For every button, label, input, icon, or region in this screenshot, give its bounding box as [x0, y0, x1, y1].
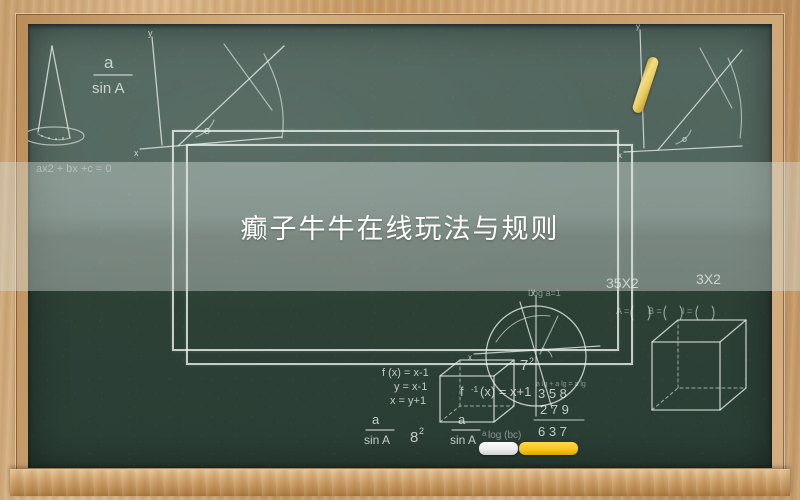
- chalkboard-banner: a sin A ax2 + bx +c = 0 y x o: [0, 0, 800, 500]
- inverse-function: f: [460, 384, 464, 399]
- log-product: a log (bc): [482, 429, 521, 441]
- svg-text:2: 2: [529, 356, 534, 366]
- circle-axis-diagram: y x: [468, 287, 600, 416]
- power-seven: 7 2: [520, 356, 534, 374]
- svg-text:6 3 7: 6 3 7: [538, 424, 567, 439]
- yellow-chalk-icon: [519, 442, 578, 455]
- svg-text:y: y: [636, 24, 640, 31]
- svg-text:x = y+1: x = y+1: [390, 395, 426, 407]
- svg-text:x: x: [134, 148, 139, 158]
- svg-text:3 5 8: 3 5 8: [538, 386, 567, 401]
- svg-text:sin A: sin A: [92, 80, 125, 97]
- law-of-sines-right: a sin A: [450, 412, 480, 447]
- svg-text:(x) = x+1: (x) = x+1: [480, 384, 531, 399]
- svg-text:7: 7: [520, 357, 528, 374]
- svg-text:x: x: [618, 151, 622, 160]
- column-subtraction: 3 5 8 2 7 9 6 3 7: [538, 386, 569, 439]
- svg-text:I =: I =: [682, 306, 692, 316]
- power-eight: 8 2: [410, 426, 424, 446]
- svg-text:o: o: [204, 125, 210, 137]
- matrix-row: A = B = I =: [616, 306, 692, 316]
- svg-text:x: x: [468, 353, 472, 362]
- svg-text:y = x-1: y = x-1: [394, 381, 427, 393]
- svg-text:log (bc): log (bc): [488, 430, 521, 441]
- log-identity: a lg + a lg = a lg: [536, 381, 586, 388]
- page-title: 癫子牛牛在线玩法与规则: [0, 162, 800, 291]
- angle-diagram-left: y x o: [134, 28, 284, 158]
- cube-diagram-right: [652, 320, 746, 410]
- svg-text:8: 8: [410, 429, 418, 446]
- svg-text:a: a: [482, 429, 487, 438]
- svg-text:o: o: [682, 134, 687, 144]
- svg-text:−: −: [538, 401, 544, 413]
- svg-text:2 7 9: 2 7 9: [540, 402, 569, 417]
- svg-text:a: a: [372, 412, 380, 427]
- svg-text:a: a: [458, 412, 466, 427]
- svg-text:y: y: [148, 28, 153, 38]
- svg-text:-1: -1: [471, 385, 479, 394]
- white-chalk-icon: [479, 442, 518, 455]
- svg-text:f (x) = x-1: f (x) = x-1: [382, 367, 429, 379]
- cube-diagram-left: [440, 360, 514, 422]
- svg-text:A =: A =: [616, 306, 629, 316]
- law-of-sines-left: a sin A: [92, 53, 132, 97]
- svg-text:B =: B =: [648, 306, 662, 316]
- cone-diagram: [28, 46, 84, 145]
- function-lines: f (x) = x-1 y = x-1 x = y+1: [382, 367, 429, 407]
- chalk-tray-ledge: [10, 469, 790, 496]
- law-of-sines-mid: a sin A: [364, 412, 394, 447]
- svg-text:2: 2: [419, 426, 424, 436]
- svg-text:sin A: sin A: [364, 433, 390, 447]
- svg-text:a: a: [104, 53, 114, 72]
- svg-text:sin A: sin A: [450, 433, 476, 447]
